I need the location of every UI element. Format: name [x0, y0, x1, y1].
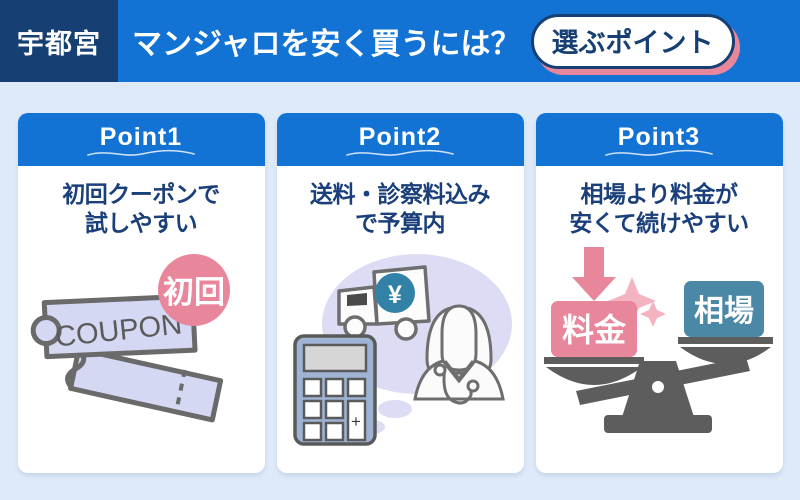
- calculator-icon: +: [295, 336, 375, 444]
- coupon-illustration: COUPON 初回: [18, 239, 265, 464]
- point-card-3-title-line1: 相場より料金が: [544, 180, 775, 209]
- wavy-underline-icon: [604, 149, 714, 159]
- first-time-badge-label: 初回: [163, 275, 225, 310]
- balance-scale-illustration: 料金 相場: [536, 239, 783, 464]
- price-box-label: 料金: [561, 312, 626, 348]
- point-card-1-title-line2: 試しやすい: [26, 209, 257, 238]
- infographic-page: 宇都宮 マンジャロを安く買うには？ 選ぶポイント Point1 初回クーポンで …: [0, 0, 800, 500]
- delivery-doctor-calculator-illustration: ¥: [277, 239, 524, 464]
- point-card-3-header: Point3: [536, 113, 783, 166]
- points-card-row: Point1 初回クーポンで 試しやすい: [0, 113, 800, 475]
- market-box-label: 相場: [694, 295, 754, 328]
- wavy-underline-icon: [86, 149, 196, 159]
- point-card-2-header: Point2: [277, 113, 524, 166]
- region-tag: 宇都宮: [0, 0, 118, 82]
- point-card-2-title-line1: 送料・診察料込み: [285, 180, 516, 209]
- header-pill-label: 選ぶポイント: [531, 14, 735, 69]
- point-card-3-art: 料金 相場: [536, 239, 783, 473]
- point-card-1-header: Point1: [18, 113, 265, 166]
- point-card-3-title: 相場より料金が 安くて続けやすい: [544, 180, 775, 239]
- yen-symbol: ¥: [388, 281, 402, 309]
- thought-bubble-dot-large: [378, 400, 412, 418]
- point-card-1: Point1 初回クーポンで 試しやすい: [18, 113, 265, 473]
- point-card-3-head-label: Point3: [618, 125, 700, 150]
- point-card-3-title-line2: 安くて続けやすい: [544, 209, 775, 238]
- point-card-2-title: 送料・診察料込み で予算内: [285, 180, 516, 239]
- header-pill: 選ぶポイント: [531, 14, 735, 69]
- down-arrow-icon: [572, 247, 616, 301]
- point-card-1-head-label: Point1: [100, 125, 182, 150]
- header-title: マンジャロを安く買うには？: [132, 19, 521, 63]
- calculator-plus-key: +: [351, 412, 361, 431]
- point-card-3: Point3 相場より料金が 安くて続けやすい 料金: [536, 113, 783, 473]
- point-card-2-head-label: Point2: [359, 125, 441, 150]
- header-bar: 宇都宮 マンジャロを安く買うには？ 選ぶポイント: [0, 0, 800, 82]
- point-card-2-art: ¥: [277, 239, 524, 473]
- point-card-1-title-line1: 初回クーポンで: [26, 180, 257, 209]
- point-card-1-title: 初回クーポンで 試しやすい: [26, 180, 257, 239]
- point-card-2-title-line2: で予算内: [285, 209, 516, 238]
- point-card-2: Point2 送料・診察料込み で予算内: [277, 113, 524, 473]
- point-card-1-art: COUPON 初回: [18, 239, 265, 473]
- wavy-underline-icon: [345, 149, 455, 159]
